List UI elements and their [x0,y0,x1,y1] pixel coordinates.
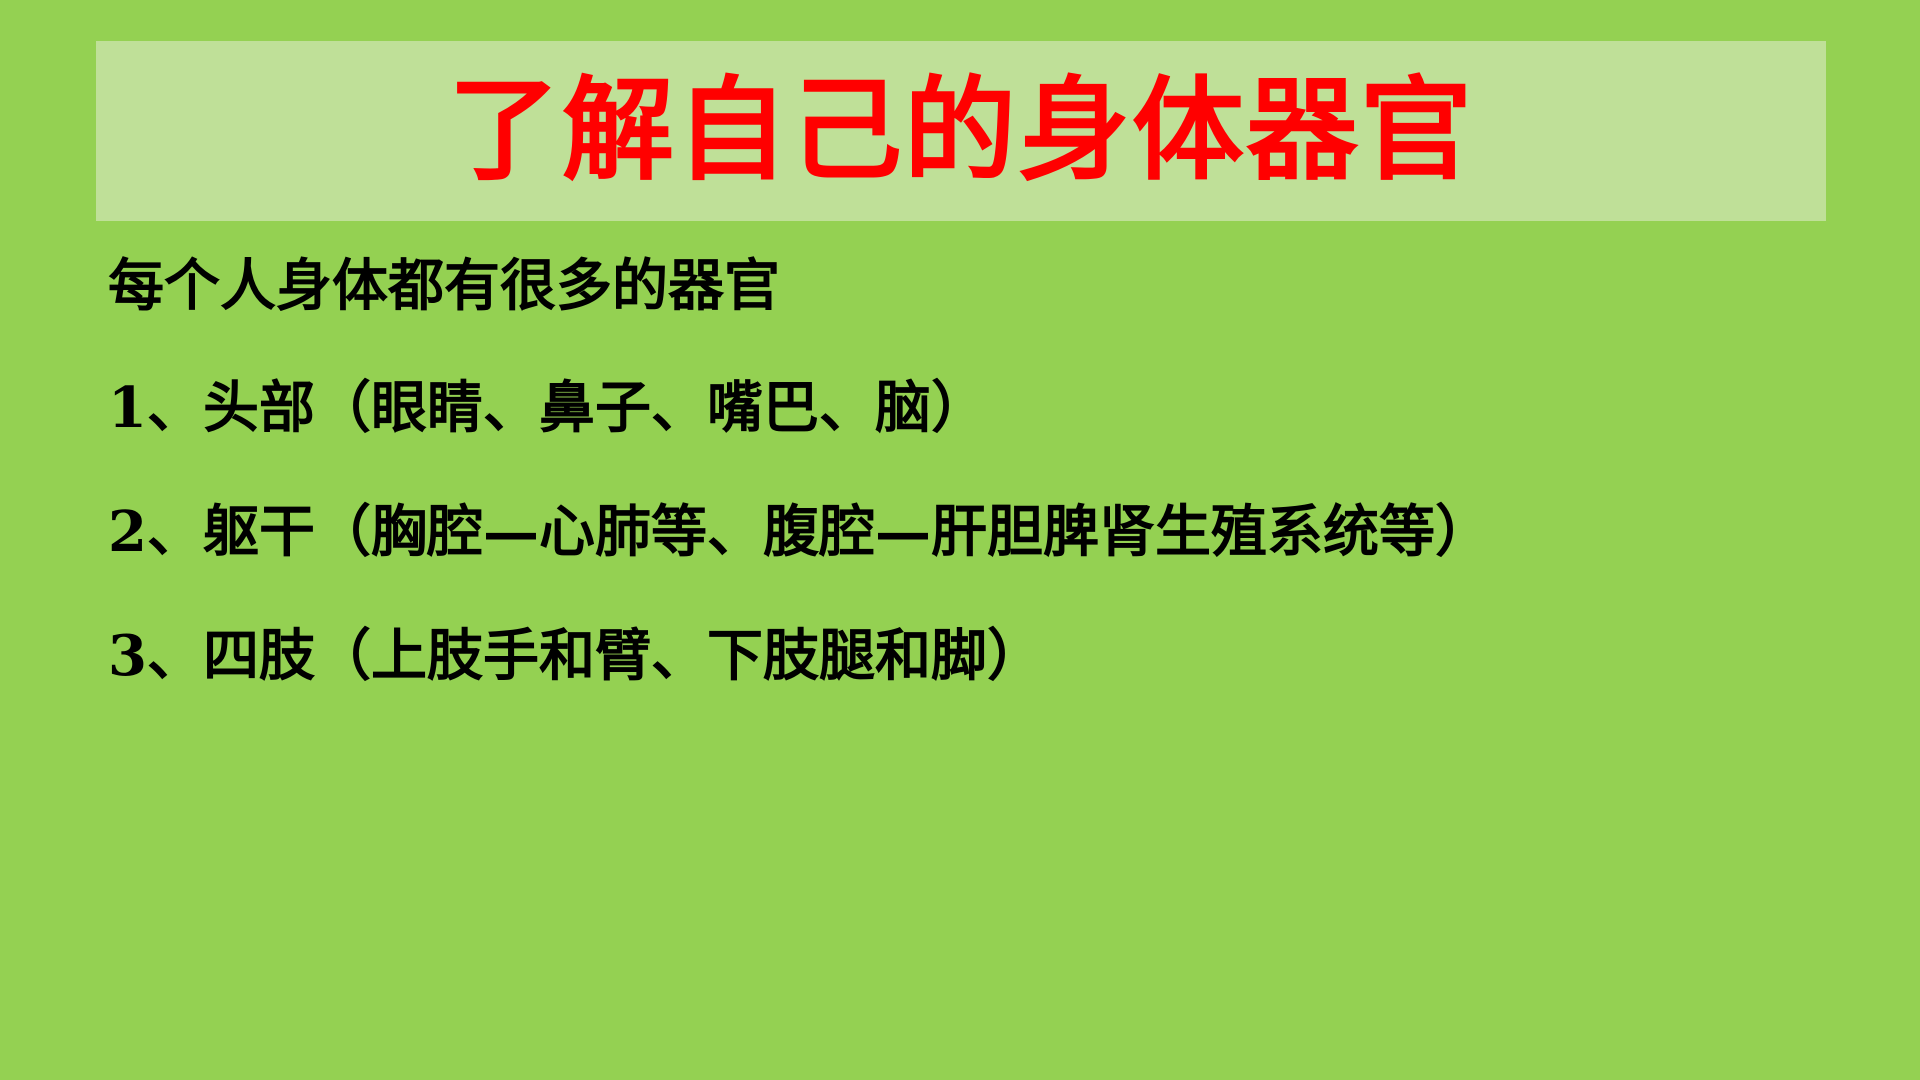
intro-text: 每个人身体都有很多的器官 [108,258,1868,314]
page-title: 了解自己的身体器官 [448,72,1474,190]
list-item-limbs: 3、四肢（上肢手和臂、下肢腿和脚） [108,628,1868,684]
title-banner: 了解自己的身体器官 [96,41,1826,221]
list-item-torso: 2、躯干（胸腔—心肺等、腹腔—肝胆脾肾生殖系统等） [108,504,1868,560]
list-item-head: 1、头部（眼睛、鼻子、嘴巴、脑） [108,380,1868,436]
body-content: 每个人身体都有很多的器官 1、头部（眼睛、鼻子、嘴巴、脑） 2、躯干（胸腔—心肺… [108,258,1868,684]
slide-canvas: 了解自己的身体器官 每个人身体都有很多的器官 1、头部（眼睛、鼻子、嘴巴、脑） … [0,0,1920,1080]
